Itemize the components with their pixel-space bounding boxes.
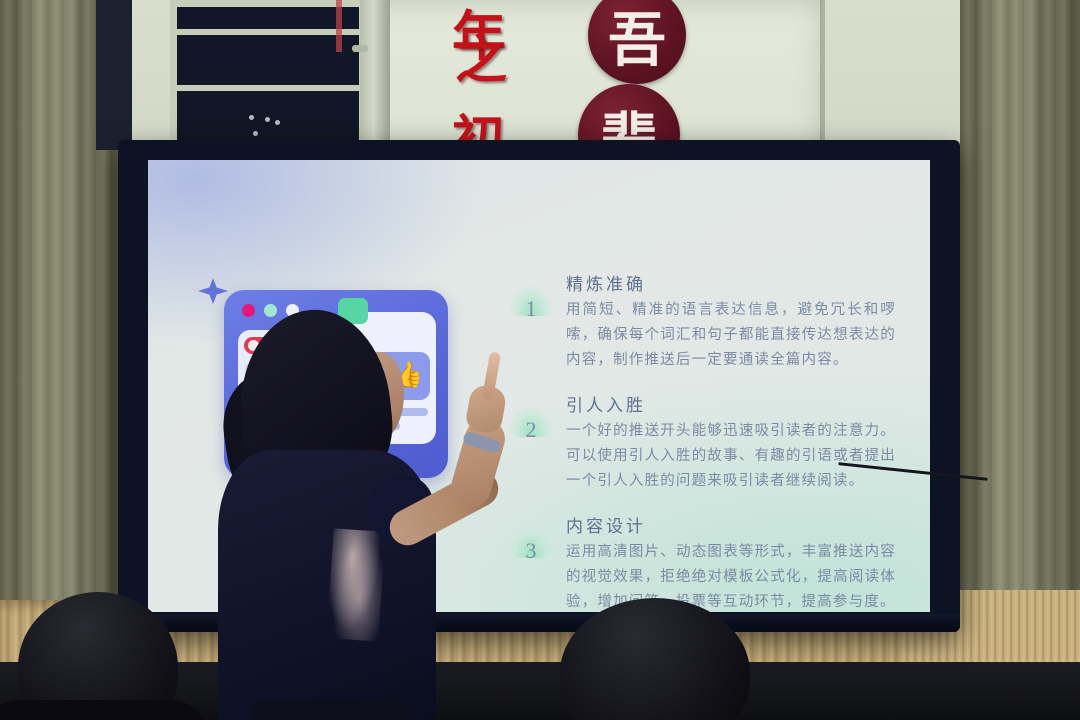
curtain-shadow-left: [96, 0, 132, 150]
door-red-strip: [336, 0, 342, 52]
door-edge: [360, 0, 390, 150]
presenter: [200, 300, 540, 720]
presenter-lower-body: [252, 700, 412, 720]
item-body: 一个好的推送开头能够迅速吸引读者的注意力。可以使用引人入胜的故事、有趣的引语或者…: [566, 419, 896, 494]
list-item: 1 精炼准确 用简短、精准的语言表达信息，避免冗长和啰嗦，确保每个词汇和句子都能…: [508, 270, 898, 373]
door-handle[interactable]: [352, 45, 368, 52]
curtain-right: [960, 0, 1080, 600]
shirt-graphic-print: [326, 528, 386, 641]
item-heading: 引人入胜: [566, 391, 898, 416]
item-heading: 精炼准确: [566, 270, 898, 295]
audience-shoulder-left: [0, 700, 210, 720]
slide-content-list: 1 精炼准确 用简短、精准的语言表达信息，避免冗长和啰嗦，确保每个词汇和句子都能…: [508, 270, 898, 612]
window-mullion: [177, 29, 359, 35]
glass-reflection-dot: [249, 115, 254, 120]
window-mullion: [177, 85, 359, 91]
wall-seam: [820, 0, 825, 150]
banner-char-2: 之: [455, 18, 507, 93]
item-body: 用简短、精准的语言表达信息，避免冗长和啰嗦，确保每个词汇和句子都能直接传达想表达…: [566, 298, 896, 373]
list-item: 2 引人入胜 一个好的推送开头能够迅速吸引读者的注意力。可以使用引人入胜的故事、…: [508, 391, 898, 494]
item-heading: 内容设计: [566, 512, 898, 537]
glass-reflection-dot: [253, 131, 258, 136]
glass-reflection-dot: [265, 117, 270, 122]
list-item: 3 内容设计 运用高清图片、动态图表等形式，丰富推送内容的视觉效果，拒绝绝对模板…: [508, 512, 898, 612]
presentation-room-photo: 年 之 初 吾 辈: [0, 0, 1080, 720]
item-body: 运用高清图片、动态图表等形式，丰富推送内容的视觉效果，拒绝绝对模板公式化，提高阅…: [566, 540, 896, 612]
glass-reflection-dot: [275, 120, 280, 125]
